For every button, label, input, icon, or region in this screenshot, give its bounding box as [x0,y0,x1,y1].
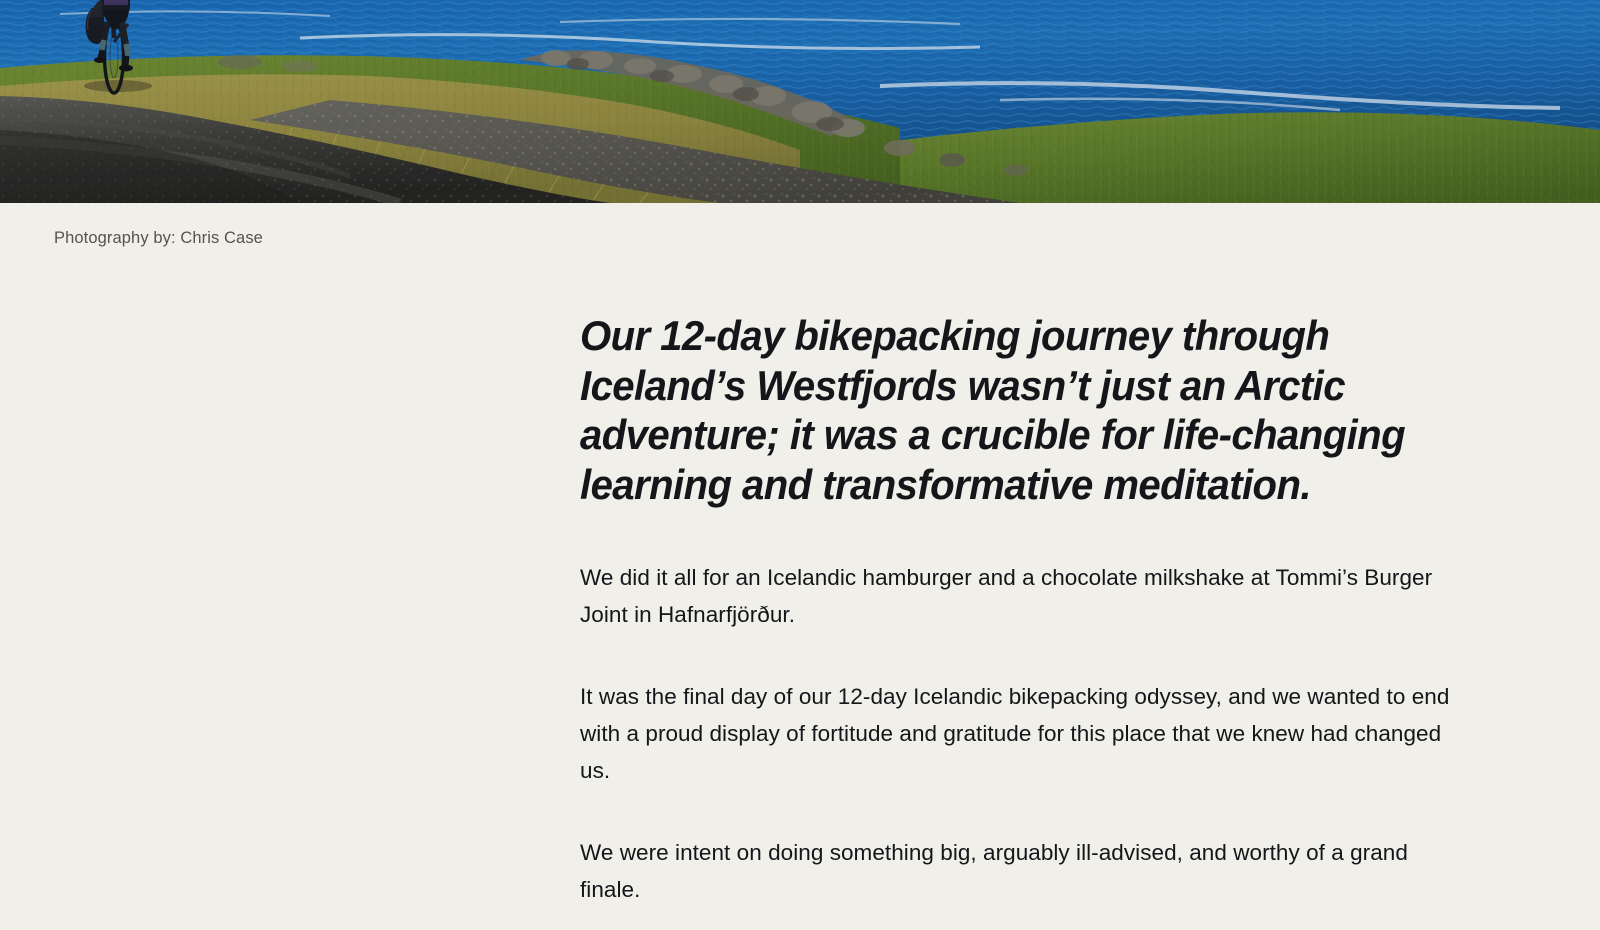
hero-image [0,0,1600,203]
article-paragraph-1: We did it all for an Icelandic hamburger… [580,559,1450,633]
pull-quote: Our 12-day bikepacking journey through I… [580,311,1411,509]
photo-credit: Photography by: Chris Case [54,228,1600,249]
hero-photo-illustration [0,0,1600,203]
article-paragraph-3: We were intent on doing something big, a… [580,834,1450,908]
article-paragraph-2: It was the final day of our 12-day Icela… [580,678,1450,789]
article-body: Our 12-day bikepacking journey through I… [580,249,1450,908]
photo-credit-row: Photography by: Chris Case [0,203,1600,249]
